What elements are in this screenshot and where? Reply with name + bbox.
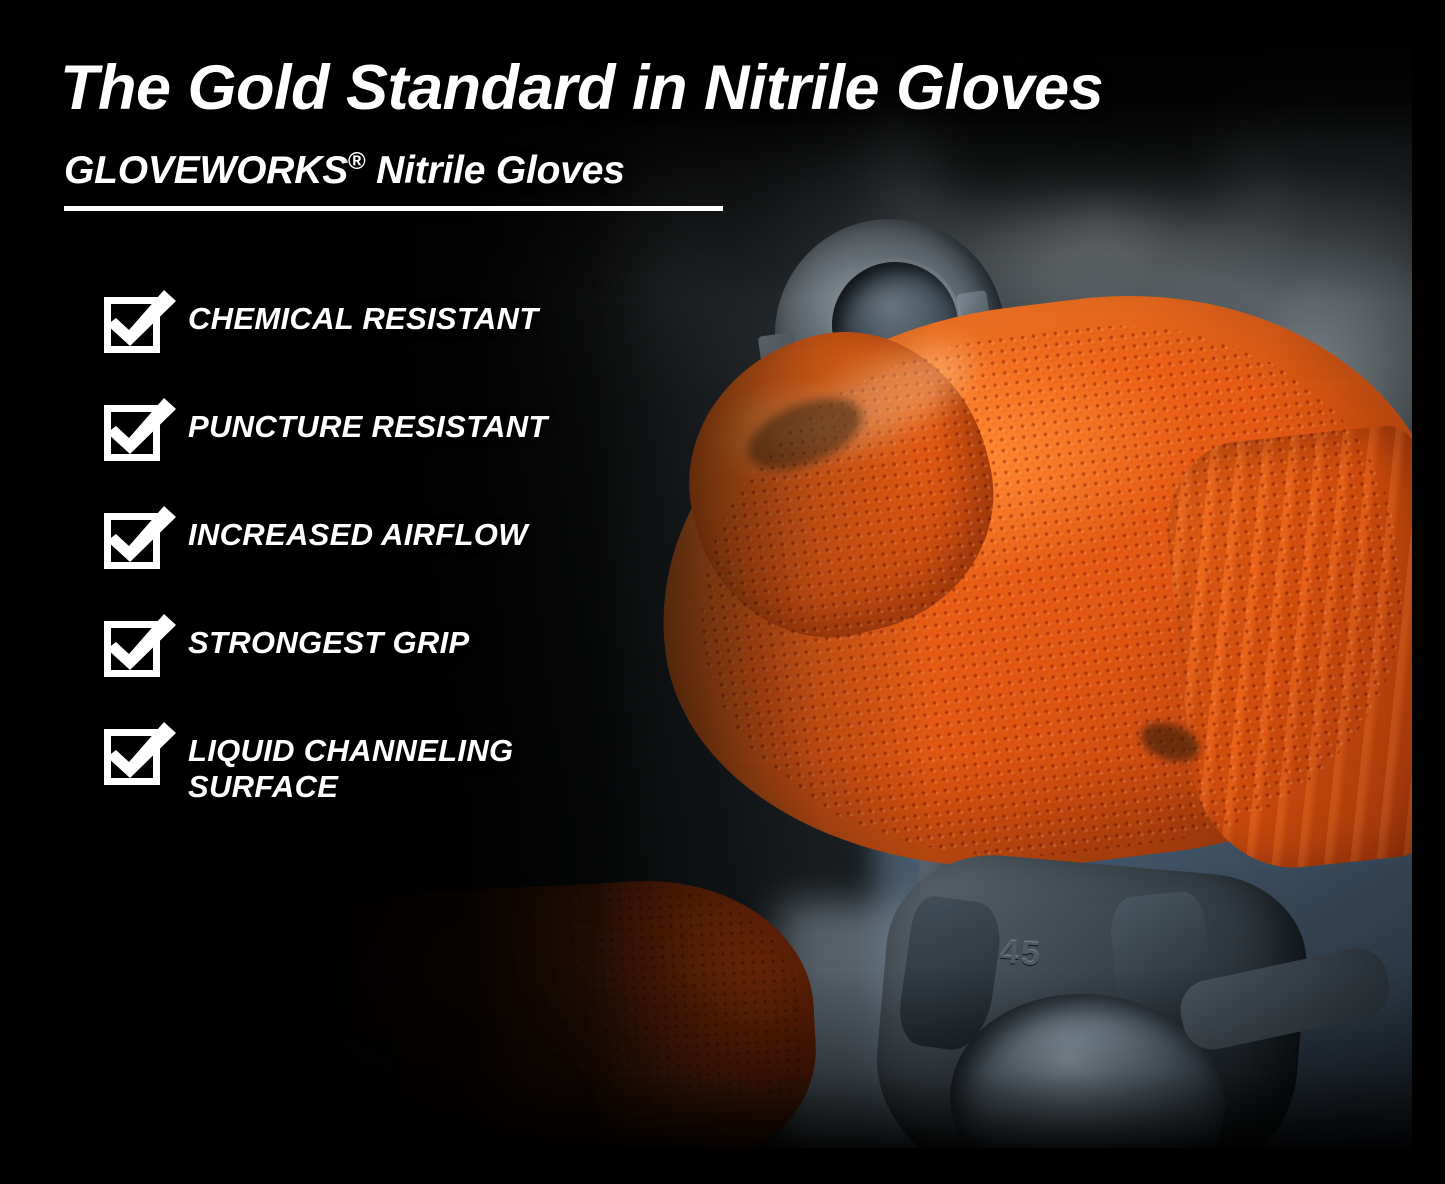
feature-label: STRONGEST GRIP [188,612,470,661]
banner-content: The Gold Standard in Nitrile Gloves GLOV… [0,0,1445,1184]
checkbox-checked-icon [104,396,178,458]
feature-item: CHEMICAL RESISTANT [104,288,724,350]
checkbox-checked-icon [104,288,178,350]
product-type: Nitrile Gloves [366,149,625,192]
feature-item: PUNCTURE RESISTANT [104,396,724,458]
feature-label: PUNCTURE RESISTANT [188,396,548,445]
brand-name: GLOVEWORKS [64,149,348,192]
banner-subheading: GLOVEWORKS® Nitrile Gloves [64,148,744,193]
feature-list: CHEMICAL RESISTANT PUNCTURE RESISTANT [104,288,724,805]
checkbox-checked-icon [104,504,178,566]
banner-subheading-group: GLOVEWORKS® Nitrile Gloves [64,148,744,211]
registered-trademark-icon: ® [348,148,365,175]
feature-label: LIQUID CHANNELING SURFACE [188,720,513,805]
banner-headline: The Gold Standard in Nitrile Gloves [60,56,1410,122]
checkbox-checked-icon [104,612,178,674]
feature-item: STRONGEST GRIP [104,612,724,674]
product-feature-banner: 45 The Gold Standard in Nitrile Gloves G… [0,0,1445,1184]
feature-item: INCREASED AIRFLOW [104,504,724,566]
subheading-underline [64,206,723,211]
feature-label: CHEMICAL RESISTANT [188,288,538,337]
checkbox-checked-icon [104,720,178,782]
feature-label: INCREASED AIRFLOW [188,504,528,553]
feature-item: LIQUID CHANNELING SURFACE [104,720,724,805]
